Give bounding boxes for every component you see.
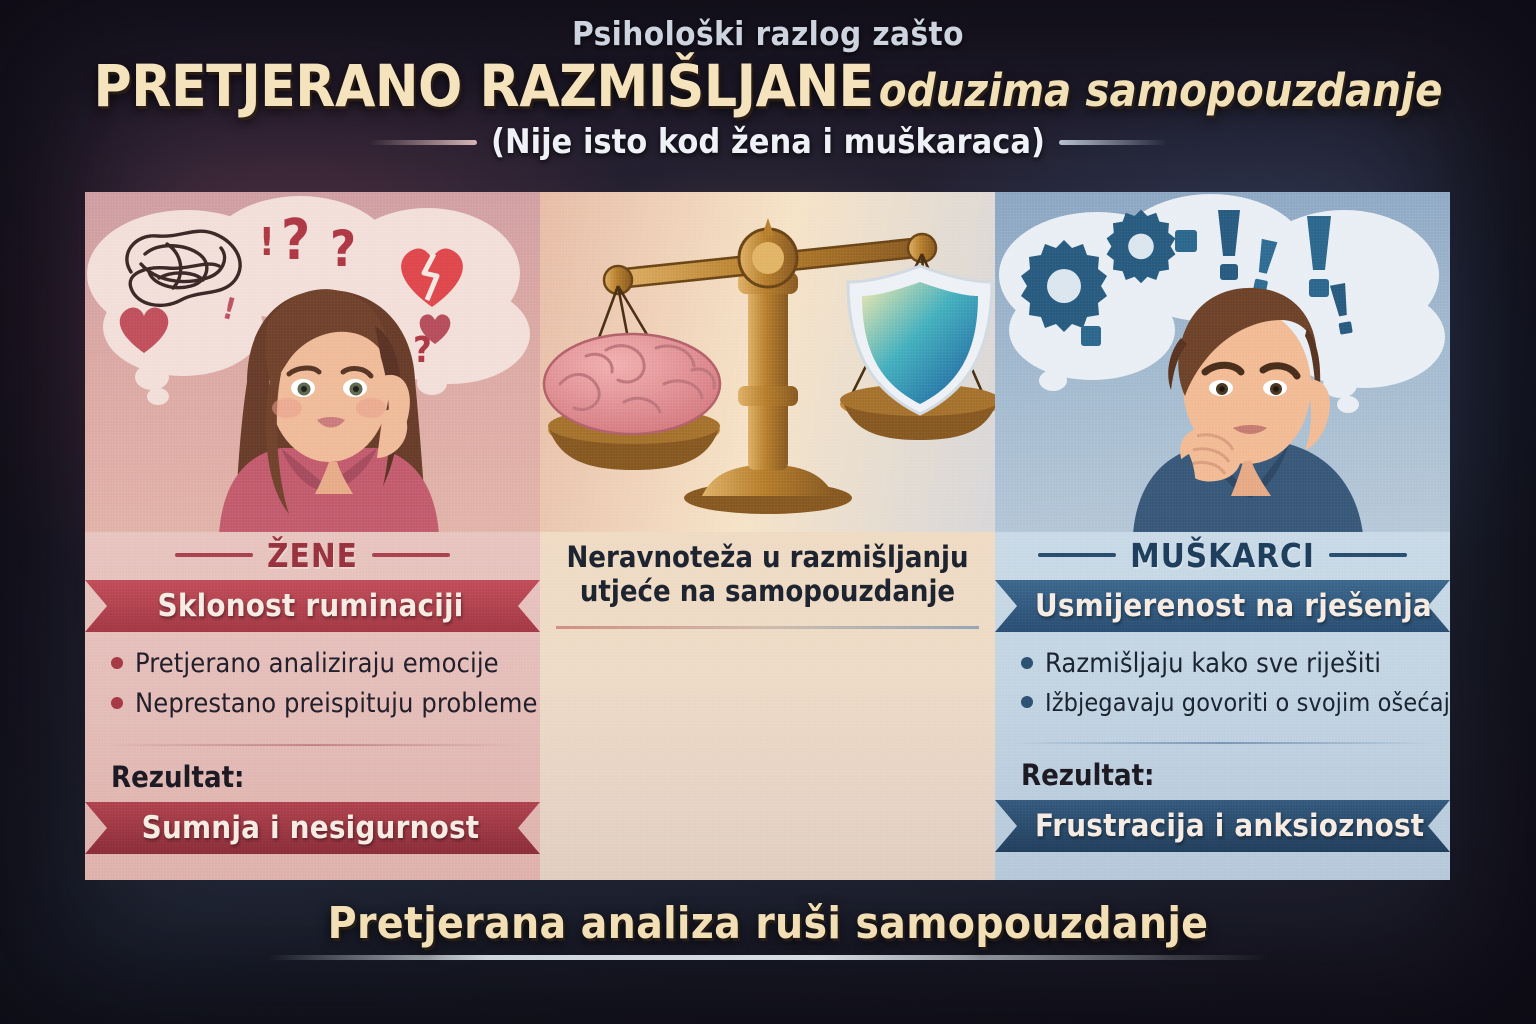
bullet-dot-icon [111,657,123,669]
footer-rule [268,955,1268,960]
bullet-list-men: Razmišljaju kako sve riješiti Ižbjegavaj… [995,632,1450,734]
trait-ribbon-men-label: Usmijerenost na rješenja [1035,588,1406,624]
men-illustration [995,192,1450,532]
footer-block: Pretjerana analiza ruši samopouzdanje [0,898,1536,960]
trait-ribbon-men[interactable]: Usmijerenost na rješenja [995,580,1450,632]
center-caption-line1: Neravnoteža u razmišljanju [564,540,971,574]
section-header-men: MUŠKARCI [995,532,1450,578]
subtitle-row: (Nije isto kod žena i muškaraca) [0,122,1536,162]
result-ribbon-men-label: Frustracija i anksioznost [1035,808,1406,844]
bullet-dot-icon [1021,696,1033,708]
header-block: Psihološki razlog zašto PRETJERANO RAZMI… [0,14,1536,162]
bullet-text: Razmišljaju kako sve riješiti [1045,648,1381,679]
center-content: Neravnoteža u razmišljanju utjeće na sam… [540,532,995,880]
result-label-women: Rezultat: [85,746,540,802]
scale-icon [552,208,984,528]
panel-men: MUŠKARCI Usmijerenost na rješenja Razmiš… [995,192,1450,880]
center-caption: Neravnoteža u razmišljanju utjeće na sam… [540,532,995,608]
title-italic-part: oduzima samopouzdanje [879,64,1443,117]
main-title: PRETJERANO RAZMIŠLJANE oduzima samopouzd… [0,57,1536,116]
heart-icon [113,300,175,356]
men-content: MUŠKARCI Usmijerenost na rješenja Razmiš… [995,532,1450,880]
question-mark-icon: ? [330,220,356,278]
rule-left [1038,553,1116,557]
bullet-dot-icon [1021,657,1033,669]
infographic-canvas: Psihološki razlog zašto PRETJERANO RAZMI… [0,0,1536,1024]
bullet-dot-icon [111,697,123,709]
bullet-text: Pretjerano analiziraju emocije [135,648,499,679]
center-caption-line2: utjeće na samopouzdanje [564,574,971,608]
kicker-text: Psihološki razlog zašto [0,14,1536,53]
section-title-women: ŽENE [267,536,358,575]
list-item: Neprestano preispituju probleme [111,688,520,719]
result-ribbon-women-label: Sumnja i nesigurnost [125,810,496,846]
result-ribbon-women[interactable]: Sumnja i nesigurnost [85,802,540,854]
balance-scale-illustration [540,192,995,532]
subtitle-rule-left [369,140,477,145]
list-item: Razmišljaju kako sve riješiti [1021,648,1430,679]
panel-women: ? ? ! ? ! [85,192,540,880]
woman-portrait-icon [177,272,477,532]
trait-ribbon-women[interactable]: Sklonost ruminaciji [85,580,540,632]
square-dot-icon [1175,230,1197,252]
center-divider [556,626,979,629]
thought-bubble-tail [135,364,169,390]
exclamation-mark-icon: ! [259,220,275,264]
footer-text: Pretjerana analiza ruši samopouzdanje [0,898,1536,949]
list-item: Pretjerano analiziraju emocije [111,648,520,679]
thought-bubble-tail [147,388,169,405]
women-illustration: ? ? ! ? ! [85,192,540,532]
section-title-men: MUŠKARCI [1130,536,1315,575]
trait-ribbon-women-label: Sklonost ruminaciji [125,588,496,624]
result-label-men: Rezultat: [995,744,1450,800]
rule-right [372,553,450,557]
rule-left [175,553,253,557]
title-bold-part: PRETJERANO RAZMIŠLJANE [94,52,874,120]
bullet-text: Neprestano preispituju probleme [135,688,538,719]
question-mark-icon: ? [281,208,310,273]
man-portrait-icon [1075,268,1395,532]
result-ribbon-men[interactable]: Frustracija i anksioznost [995,800,1450,852]
subtitle-text: (Nije isto kod žena i muškaraca) [491,122,1045,162]
women-content: ŽENE Sklonost ruminaciji Pretjerano anal… [85,532,540,880]
thought-bubble-tail [1039,370,1067,391]
bullet-text: Ižbjegavaju govoriti o svojim ošećajima [1045,688,1450,717]
section-header-women: ŽENE [85,532,540,578]
bullet-list-women: Pretjerano analiziraju emocije Neprestan… [85,632,540,736]
panel-center: Neravnoteža u razmišljanju utjeće na sam… [540,192,995,880]
rule-right [1329,553,1407,557]
subtitle-rule-right [1059,140,1167,145]
list-item: Ižbjegavaju govoriti o svojim ošećajima [1021,688,1430,717]
